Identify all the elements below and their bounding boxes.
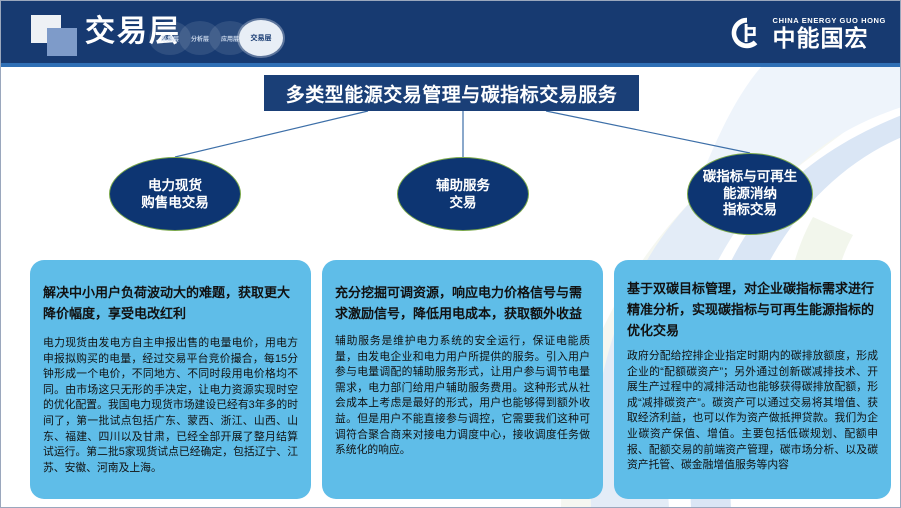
brand-text-block: CHINA ENERGY GUO HONG 中能国宏 bbox=[773, 16, 886, 51]
panel-body-text: 政府分配给控排企业指定时期内的碳排放额度，形成企业的“配额碳资产”；另外通过创新… bbox=[627, 349, 878, 474]
header-bar: 交易层 采集层 分析层 应用层 交易层 C bbox=[1, 1, 901, 63]
panel-body-text: 电力现货由发电方自主申报出售的电量电价，用电方申报拟购买的电量，经过交易平台竞价… bbox=[43, 336, 298, 476]
node-spot-power-trading[interactable]: 电力现货 购售电交易 bbox=[109, 157, 241, 231]
panel-spot-power-trading: 解决中小用户负荷波动大的难题，获取更大降价幅度，享受电改红利 电力现货由发电方自… bbox=[30, 260, 311, 499]
node-label: 电力现货 购售电交易 bbox=[141, 177, 209, 211]
brand-logo: CHINA ENERGY GUO HONG 中能国宏 bbox=[729, 13, 886, 53]
slide-canvas: 交易层 采集层 分析层 应用层 交易层 C bbox=[0, 0, 901, 508]
node-ancillary-service-trading[interactable]: 辅助服务 交易 bbox=[397, 157, 529, 231]
panel-ancillary-service-trading: 充分挖掘可调资源，响应电力价格信号与需求激励信号，降低用电成本，获取额外收益 辅… bbox=[322, 260, 603, 499]
company-logo-icon bbox=[729, 15, 765, 51]
layer-pill-group: 采集层 分析层 应用层 交易层 bbox=[149, 21, 289, 55]
diagram-title-text: 多类型能源交易管理与碳指标交易服务 bbox=[286, 80, 618, 107]
node-carbon-renewable-trading[interactable]: 碳指标与可再生 能源消纳 指标交易 bbox=[687, 153, 813, 235]
node-label: 碳指标与可再生 能源消纳 指标交易 bbox=[688, 169, 812, 219]
panel-body-text: 辅助服务是维护电力系统的安全运行，保证电能质量，由发电企业和电力用户所提供的服务… bbox=[335, 334, 590, 459]
layer-pill-label: 采集层 bbox=[161, 34, 179, 43]
panel-headline: 解决中小用户负荷波动大的难题，获取更大降价幅度，享受电改红利 bbox=[43, 282, 298, 324]
header-accent-rule bbox=[1, 63, 901, 67]
panel-headline: 充分挖掘可调资源，响应电力价格信号与需求激励信号，降低用电成本，获取额外收益 bbox=[335, 282, 590, 324]
logo-square-blue bbox=[47, 28, 77, 56]
brand-chinese: 中能国宏 bbox=[773, 26, 886, 51]
layer-pill-label: 分析层 bbox=[191, 34, 209, 43]
brand-english: CHINA ENERGY GUO HONG bbox=[773, 16, 886, 26]
diagram-title-banner: 多类型能源交易管理与碳指标交易服务 bbox=[264, 75, 639, 111]
layer-pill-transaction-active[interactable]: 交易层 bbox=[239, 20, 283, 56]
panel-carbon-renewable-trading: 基于双碳目标管理，对企业碳指标需求进行精准分析，实现碳指标与可再生能源指标的优化… bbox=[614, 260, 891, 499]
node-label: 辅助服务 交易 bbox=[436, 177, 490, 211]
layer-pill-label: 交易层 bbox=[251, 33, 272, 43]
panel-headline: 基于双碳目标管理，对企业碳指标需求进行精准分析，实现碳指标与可再生能源指标的优化… bbox=[627, 278, 878, 341]
layer-pill-label: 应用层 bbox=[221, 34, 239, 43]
